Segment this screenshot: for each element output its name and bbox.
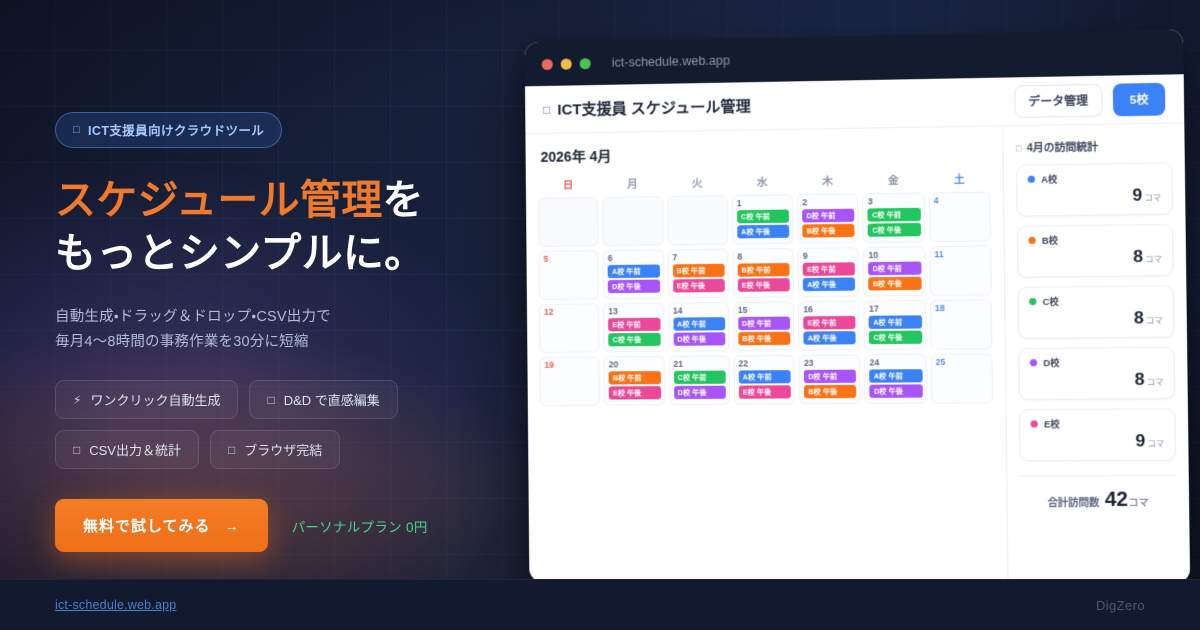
calendar-event[interactable]: C校 午後 <box>869 331 922 345</box>
day-number: 12 <box>544 307 595 317</box>
day-number: 20 <box>609 360 661 370</box>
calendar-event[interactable]: E校 午後 <box>673 279 725 293</box>
calendar-event[interactable]: D校 午前 <box>802 209 854 223</box>
color-dot-icon <box>1028 176 1035 183</box>
stats-card: D校8コマ <box>1018 347 1175 400</box>
calendar-day-cell[interactable]: 24A校 午前D校 午後 <box>864 354 926 404</box>
stats-panel: □ 4月の訪問統計 A校9コマB校8コマC校8コマD校8コマE校9コマ 合計訪問… <box>1002 123 1190 583</box>
browser-icon: □ <box>228 443 235 457</box>
calendar-event[interactable]: B校 午後 <box>804 385 857 399</box>
calendar-day-cell[interactable]: 13E校 午前C校 午後 <box>603 303 664 353</box>
day-number: 11 <box>934 250 987 260</box>
stats-card-header: C校 <box>1029 294 1162 309</box>
school-count-badge[interactable]: 5校 <box>1113 82 1165 116</box>
calendar-event[interactable]: B校 午前 <box>673 264 725 278</box>
day-number: 14 <box>673 306 725 316</box>
calendar-event[interactable]: B校 午前 <box>738 263 790 277</box>
calendar-event[interactable]: A校 午前 <box>673 317 725 331</box>
app-title: □ ICT支援員 スケジュール管理 <box>543 95 751 120</box>
calendar-day-cell[interactable]: 19 <box>539 356 600 406</box>
day-number: 13 <box>608 307 660 317</box>
stats-card-unit: コマ <box>1147 378 1164 387</box>
calendar-event[interactable]: D校 午後 <box>674 386 726 399</box>
cta-row: 無料で試してみる → パーソナルプラン 0円 <box>55 499 525 552</box>
calendar-event[interactable]: D校 午後 <box>870 385 923 399</box>
calendar-day-cell[interactable]: 11 <box>929 245 992 295</box>
page-title: スケジュール管理を もっとシンプルに。 <box>55 174 525 281</box>
data-management-button[interactable]: データ管理 <box>1014 83 1103 117</box>
stats-title-text: 4月の訪問統計 <box>1027 139 1099 155</box>
stats-card-header: A校 <box>1028 171 1161 186</box>
calendar-event[interactable]: B校 午前 <box>609 371 661 384</box>
calendar-day-cell[interactable]: 8B校 午前E校 午後 <box>732 248 794 298</box>
stats-card-value-wrap: 9コマ <box>1031 431 1165 452</box>
feature-chip: □ブラウザ完結 <box>210 430 340 469</box>
calendar-event[interactable]: A校 午後 <box>804 331 856 345</box>
app-title-text: ICT支援員 スケジュール管理 <box>557 95 751 119</box>
calendar-event[interactable]: C校 午前 <box>674 371 726 384</box>
calendar-day-cell[interactable]: 6A校 午前D校 午後 <box>603 249 664 299</box>
app-header-actions: データ管理 5校 <box>1014 82 1166 117</box>
feature-chip-list: ⚡ワンクリック自動生成□D&D で直感編集□CSV出力＆統計□ブラウザ完結 <box>55 380 455 469</box>
calendar-event[interactable]: B校 午後 <box>802 224 854 238</box>
browser-mockup: ict-schedule.web.app □ ICT支援員 スケジュール管理 デ… <box>525 29 1191 583</box>
calendar-event[interactable]: B校 午後 <box>869 277 922 291</box>
calendar-day-cell[interactable]: 18 <box>930 299 993 349</box>
day-number: 9 <box>803 251 855 261</box>
calendar-day-cell[interactable]: 4 <box>928 192 991 243</box>
stats-card-value: 8 <box>1135 370 1145 390</box>
stats-card-name: A校 <box>1041 172 1057 185</box>
day-number: 2 <box>802 198 854 208</box>
calendar-day-cell[interactable] <box>538 197 599 247</box>
calendar-event[interactable]: E校 午後 <box>609 386 661 399</box>
calendar-event[interactable]: C校 午後 <box>609 333 661 346</box>
stats-card-unit: コマ <box>1146 316 1163 325</box>
calendar-event[interactable]: A校 午前 <box>869 316 922 330</box>
headline-line2: もっとシンプルに。 <box>55 230 425 276</box>
stats-total: 合計訪問数42コマ <box>1020 475 1177 512</box>
cta-price-note: パーソナルプラン 0円 <box>292 516 428 536</box>
weekday-label: 木 <box>797 173 859 189</box>
weekday-label: 日 <box>538 177 598 193</box>
day-number: 21 <box>673 359 725 369</box>
day-number: 6 <box>608 253 660 263</box>
hero-subtitle: 自動生成・ドラッグ＆ドロップ・CSV出力で 毎月4〜8時間の事務作業を30分に短… <box>55 305 525 355</box>
stats-card-unit: コマ <box>1147 439 1164 448</box>
calendar-day-cell[interactable]: 5 <box>538 250 599 300</box>
day-number: 7 <box>672 253 724 263</box>
calendar-event[interactable]: E校 午後 <box>738 279 790 293</box>
calendar-event[interactable]: D校 午前 <box>738 317 790 331</box>
stats-total-label: 合計訪問数 <box>1047 498 1099 509</box>
day-number: 18 <box>935 303 988 313</box>
calendar-event[interactable]: E校 午前 <box>803 263 855 277</box>
calendar-event[interactable]: A校 午前 <box>739 370 791 383</box>
calendar-day-cell[interactable]: 7B校 午前E校 午後 <box>667 249 728 299</box>
day-number: 10 <box>868 250 921 260</box>
bolt-icon: ⚡ <box>73 393 81 407</box>
day-number: 4 <box>934 196 987 206</box>
feature-chip: ⚡ワンクリック自動生成 <box>55 380 238 419</box>
stats-card: E校9コマ <box>1019 408 1176 461</box>
calendar-event[interactable]: A校 午後 <box>737 225 789 239</box>
calendar-event[interactable]: C校 午前 <box>868 208 921 222</box>
day-number: 23 <box>804 358 856 368</box>
stats-card: B校8コマ <box>1017 224 1174 278</box>
feature-chip-label: ブラウザ完結 <box>244 440 322 459</box>
day-number: 1 <box>737 198 789 208</box>
app-body: 2026年 4月 日月火水木金土 1C校 午前A校 午後2D校 午前B校 午後3… <box>525 123 1190 583</box>
cursor-icon: □ <box>267 393 274 407</box>
calendar-day-cell[interactable]: 21C校 午前D校 午後 <box>668 355 729 405</box>
headline-accent: スケジュール管理 <box>55 177 383 223</box>
stats-card: A校9コマ <box>1016 162 1173 216</box>
calendar-event[interactable]: E校 午前 <box>803 316 855 330</box>
calendar-day-cell[interactable]: 16E校 午前A校 午後 <box>798 301 860 351</box>
cta-label: 無料で試してみる <box>83 515 211 536</box>
calendar-event[interactable]: D校 午後 <box>608 280 660 294</box>
calendar-icon: □ <box>543 102 550 116</box>
calendar-event[interactable]: C校 午前 <box>737 210 789 224</box>
calendar-grid: 1C校 午前A校 午後2D校 午前B校 午後3C校 午前C校 午後456A校 午… <box>538 192 993 406</box>
calendar-day-cell[interactable]: 2D校 午前B校 午後 <box>797 193 859 243</box>
stats-card-value: 8 <box>1133 247 1143 267</box>
calendar-day-cell[interactable]: 14A校 午前D校 午後 <box>668 302 729 352</box>
stats-card-value-wrap: 8コマ <box>1029 246 1163 268</box>
subtitle-line-2: 毎月4〜8時間の事務作業を30分に短縮 <box>55 334 309 350</box>
calendar-event[interactable]: E校 午後 <box>739 386 791 399</box>
hero-section: □ ICT支援員向けクラウドツール スケジュール管理を もっとシンプルに。 自動… <box>55 112 525 552</box>
stats-card-unit: コマ <box>1145 255 1162 264</box>
calendar-day-cell[interactable] <box>667 195 728 245</box>
stats-card-name: D校 <box>1043 356 1059 369</box>
color-dot-icon <box>1029 298 1036 305</box>
hero-badge-label: ICT支援員向けクラウドツール <box>88 120 264 139</box>
maximize-icon[interactable] <box>580 58 591 69</box>
calendar-event[interactable]: B校 午後 <box>738 332 790 346</box>
calendar-month-label: 2026年 4月 <box>538 140 991 167</box>
calendar-day-cell[interactable]: 10D校 午前B校 午後 <box>863 246 925 296</box>
day-number: 16 <box>803 305 855 315</box>
stats-card-header: B校 <box>1028 232 1161 247</box>
close-icon[interactable] <box>542 58 553 69</box>
color-dot-icon <box>1031 420 1038 427</box>
calendar-event[interactable]: A校 午前 <box>870 369 923 383</box>
headline-rest: を <box>383 177 424 223</box>
stats-card-name: B校 <box>1042 233 1058 246</box>
stats-card-header: E校 <box>1030 417 1164 431</box>
calendar-day-cell[interactable]: 25 <box>930 353 993 403</box>
calendar-event[interactable]: D校 午前 <box>868 262 921 276</box>
stats-total-unit: コマ <box>1128 498 1149 509</box>
stats-title: □ 4月の訪問統計 <box>1016 138 1172 156</box>
calendar-day-cell[interactable]: 3C校 午前C校 午後 <box>863 193 925 243</box>
day-number: 24 <box>869 358 922 368</box>
day-number: 3 <box>868 197 921 207</box>
day-number: 8 <box>737 252 789 262</box>
feature-chip: □CSV出力＆統計 <box>55 430 199 469</box>
calendar-event[interactable]: D校 午前 <box>804 370 857 384</box>
feature-chip-label: D&D で直感編集 <box>284 390 380 409</box>
day-number: 5 <box>543 254 594 264</box>
stats-card-value: 9 <box>1135 431 1145 451</box>
feature-chip-label: ワンクリック自動生成 <box>90 390 220 409</box>
address-bar[interactable]: ict-schedule.web.app <box>612 53 730 69</box>
arrow-right-icon: → <box>225 518 240 534</box>
color-dot-icon <box>1030 359 1037 366</box>
weekday-label: 水 <box>732 174 793 190</box>
bar-chart-icon: □ <box>1016 143 1022 153</box>
subtitle-line-1: 自動生成・ドラッグ＆ドロップ・CSV出力で <box>55 309 331 325</box>
calendar-event[interactable]: C校 午後 <box>868 223 921 237</box>
calendar-day-cell[interactable]: 9E校 午前A校 午後 <box>798 247 860 297</box>
weekday-label: 土 <box>928 171 990 187</box>
day-number: 22 <box>738 359 790 369</box>
footer-brand: DigZero <box>1096 598 1145 613</box>
weekday-label: 金 <box>862 172 924 188</box>
calendar-pane: 2026年 4月 日月火水木金土 1C校 午前A校 午後2D校 午前B校 午後3… <box>525 126 1007 582</box>
calendar-day-cell[interactable]: 20B校 午前E校 午後 <box>604 356 665 406</box>
stats-card-value-wrap: 8コマ <box>1029 308 1163 330</box>
calendar-day-cell[interactable]: 22A校 午前E校 午後 <box>733 355 795 405</box>
page-footer: ict-schedule.web.app DigZero <box>0 579 1200 630</box>
stats-card-value-wrap: 8コマ <box>1030 369 1164 390</box>
weekday-label: 月 <box>602 176 663 192</box>
stats-total-value: 42 <box>1105 489 1129 512</box>
minimize-icon[interactable] <box>561 58 572 69</box>
stats-card-name: C校 <box>1043 295 1059 308</box>
day-number: 19 <box>544 360 595 370</box>
stats-card-value: 8 <box>1134 308 1144 328</box>
calendar-day-cell[interactable]: 1C校 午前A校 午後 <box>732 194 794 244</box>
stats-card-header: D校 <box>1030 355 1164 369</box>
stats-card-list: A校9コマB校8コマC校8コマD校8コマE校9コマ <box>1016 162 1176 461</box>
stats-card-value: 9 <box>1132 185 1142 205</box>
chart-icon: □ <box>73 443 80 457</box>
feature-chip-label: CSV出力＆統計 <box>89 440 181 459</box>
calendar-event[interactable]: A校 午後 <box>803 278 855 292</box>
day-number: 15 <box>738 305 790 315</box>
feature-chip: □D&D で直感編集 <box>249 380 397 419</box>
calendar-event[interactable]: E校 午前 <box>608 318 660 332</box>
stats-card: C校8コマ <box>1018 285 1175 339</box>
hero-badge: □ ICT支援員向けクラウドツール <box>55 112 282 148</box>
calendar-day-cell[interactable]: 23D校 午前B校 午後 <box>799 354 861 404</box>
calendar-day-cell[interactable]: 17A校 午前C校 午後 <box>864 300 926 350</box>
calendar-day-cell[interactable] <box>602 196 663 246</box>
calendar-event[interactable]: D校 午後 <box>673 333 725 347</box>
footer-site-link[interactable]: ict-schedule.web.app <box>55 598 176 612</box>
free-trial-button[interactable]: 無料で試してみる → <box>55 499 268 552</box>
weekday-header: 日月火水木金土 <box>538 171 991 193</box>
calendar-day-cell[interactable]: 12 <box>539 303 600 353</box>
day-number: 25 <box>935 357 988 367</box>
sparkle-icon: □ <box>73 124 80 136</box>
calendar-event[interactable]: A校 午前 <box>608 265 660 279</box>
stats-card-name: E校 <box>1044 417 1060 430</box>
weekday-label: 火 <box>667 175 728 191</box>
stats-card-value-wrap: 9コマ <box>1028 185 1161 207</box>
day-number: 17 <box>869 304 922 314</box>
color-dot-icon <box>1028 237 1035 244</box>
calendar-day-cell[interactable]: 15D校 午前B校 午後 <box>733 301 795 351</box>
stats-card-unit: コマ <box>1144 193 1161 202</box>
